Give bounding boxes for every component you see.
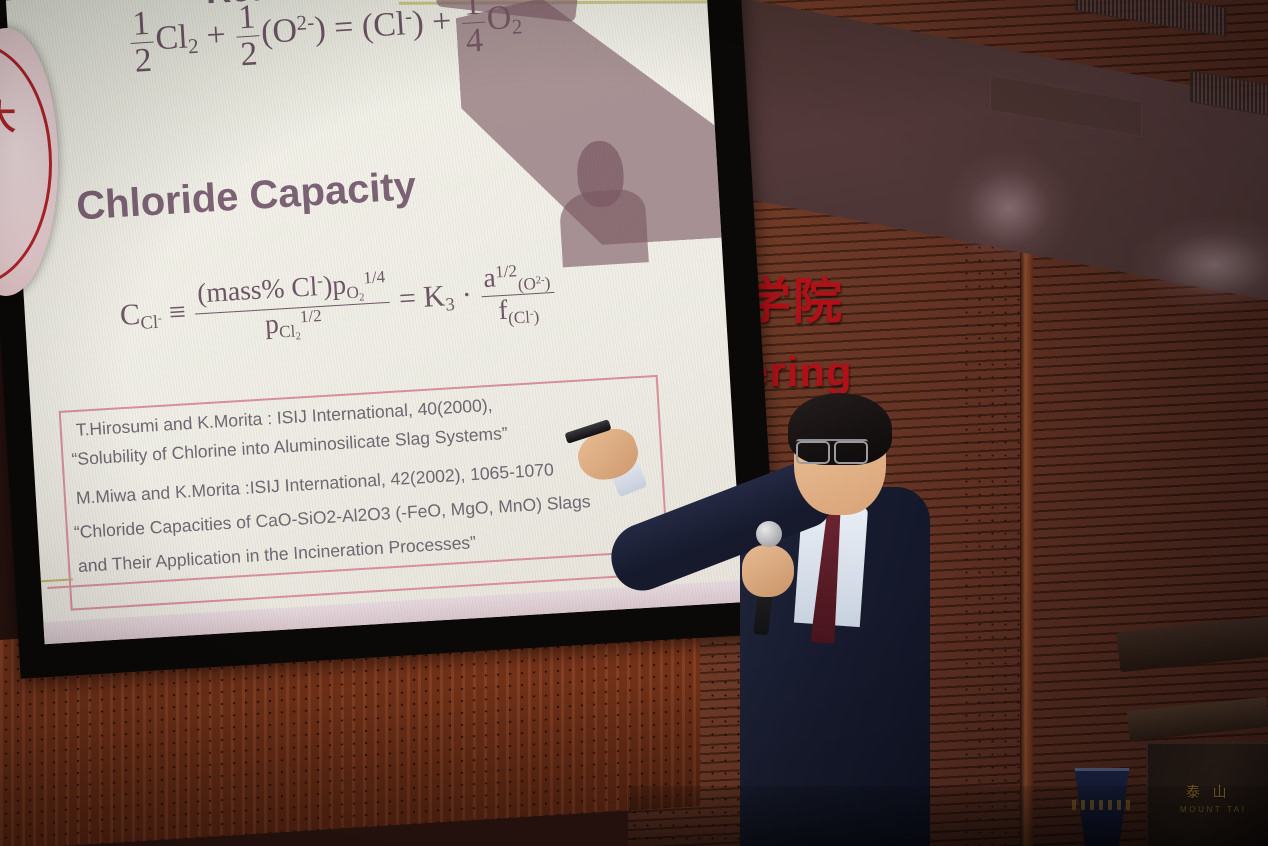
- eq-frac-den: 2: [131, 41, 156, 79]
- cc-activity: a1/2(O2-): [479, 260, 553, 296]
- emblem-chinese-char: 大: [0, 90, 16, 139]
- equation-chloride-capacity: CCl- ≡ (mass% Cl-)pO21/4 pCl21/2 = K3 · …: [118, 258, 558, 353]
- cc-identity: ≡: [168, 295, 187, 329]
- presenter-mic-hand: [742, 545, 794, 597]
- floor-shadow: [628, 786, 1268, 846]
- eq-frac-num-2: 1: [234, 0, 259, 36]
- eq-equals: =: [333, 9, 354, 47]
- eq-product-chloride: (Cl-): [361, 4, 425, 45]
- cc-constant: K3: [422, 279, 455, 314]
- reference-tick-mark: [33, 578, 73, 582]
- eq-species-cl2: Cl2: [154, 18, 199, 58]
- cc-dot: ·: [461, 278, 473, 312]
- eq-frac-num: 1: [128, 6, 153, 43]
- perforated-wall-strip-right: [960, 150, 1022, 846]
- cc-activity-coeff: f(Cl-): [481, 292, 556, 329]
- emblem-ring: [0, 42, 52, 286]
- cc-lhs: CCl-: [119, 297, 162, 332]
- projected-shadow-shoulders: [559, 188, 649, 267]
- eq-frac-den-2: 2: [236, 35, 261, 73]
- slide-heading: Chloride Capacity: [75, 164, 417, 229]
- eq-plus-1: +: [205, 16, 226, 54]
- presenter-glasses: [796, 439, 868, 461]
- lecture-photo-scene: 学院 ering Reaction of Chlorine 12Cl2 + 12…: [0, 0, 1268, 846]
- microphone-head: [756, 521, 782, 547]
- eq-species-oxide: (O2-): [260, 10, 327, 51]
- eq-plus-2: +: [431, 3, 452, 41]
- cc-equals: =: [398, 282, 417, 316]
- presenter: [560, 395, 960, 846]
